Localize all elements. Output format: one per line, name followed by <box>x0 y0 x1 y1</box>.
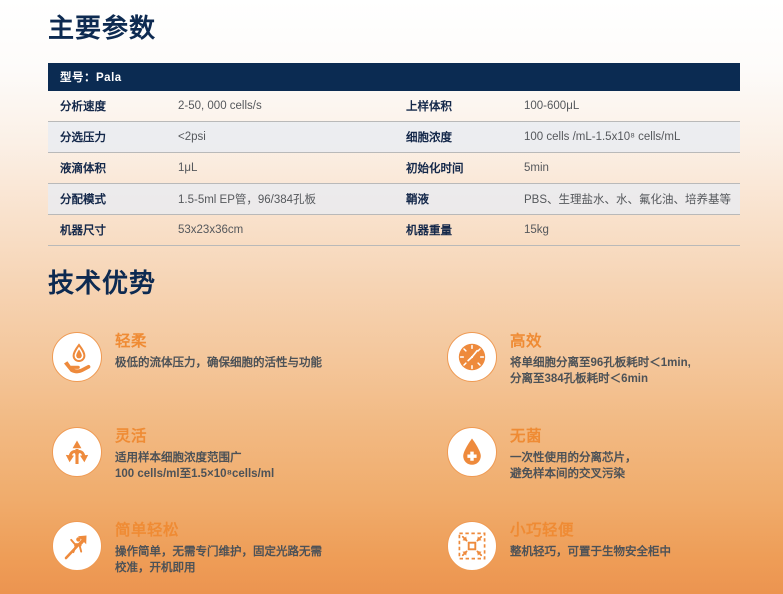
branching-arrows-icon <box>52 427 102 477</box>
advantage-item-sterile: 无菌 一次性使用的分离芯片， 避免样本间的交叉污染 <box>447 427 637 483</box>
advantage-title: 轻柔 <box>115 333 322 351</box>
droplet-cross-icon <box>447 427 497 477</box>
advantage-text: 轻柔 极低的流体压力，确保细胞的活性与功能 <box>115 332 322 371</box>
page-title-technical-advantages: 技术优势 <box>48 263 156 300</box>
spec-key: 液滴体积 <box>48 153 166 184</box>
advantage-item-gentle: 轻柔 极低的流体压力，确保细胞的活性与功能 <box>52 332 322 382</box>
advantage-title: 简单轻松 <box>115 522 322 540</box>
spec-value: 2-50, 000 cells/s <box>166 91 394 122</box>
spec-key: 初始化时间 <box>394 153 512 184</box>
specifications-table: 型号：Pala 分析速度 2-50, 000 cells/s 上样体积 100-… <box>48 63 740 246</box>
spec-value: 100 cells /mL-1.5x10⁸ cells/mL <box>512 122 740 153</box>
advantage-item-easy: 简单轻松 操作简单，无需专门维护，固定光路无需 校准，开机即用 <box>52 521 322 577</box>
spec-key: 鞘液 <box>394 184 512 215</box>
advantage-description: 适用样本细胞浓度范围广 100 cells/ml至1.5×10⁸cells/ml <box>115 450 274 483</box>
spec-key: 上样体积 <box>394 91 512 122</box>
table-header-row: 型号：Pala <box>48 63 740 91</box>
table-row: 机器尺寸 53x23x36cm 机器重量 15kg <box>48 215 740 246</box>
product-spec-page: 主要参数 型号：Pala 分析速度 2-50, 000 cells/s 上样体积… <box>0 0 783 594</box>
advantage-description: 一次性使用的分离芯片， 避免样本间的交叉污染 <box>510 450 637 483</box>
advantage-text: 简单轻松 操作简单，无需专门维护，固定光路无需 校准，开机即用 <box>115 521 322 577</box>
advantage-item-compact: 小巧轻便 整机轻巧，可置于生物安全柜中 <box>447 521 671 571</box>
spec-key: 分选压力 <box>48 122 166 153</box>
spec-key: 细胞浓度 <box>394 122 512 153</box>
table-row: 分析速度 2-50, 000 cells/s 上样体积 100-600μL <box>48 91 740 122</box>
advantage-description: 整机轻巧，可置于生物安全柜中 <box>510 544 671 561</box>
advantage-item-flexible: 灵活 适用样本细胞浓度范围广 100 cells/ml至1.5×10⁸cells… <box>52 427 274 483</box>
droplet-on-hand-icon <box>52 332 102 382</box>
spec-key: 分配模式 <box>48 184 166 215</box>
spec-value: 15kg <box>512 215 740 246</box>
spec-value: 100-600μL <box>512 91 740 122</box>
advantage-text: 无菌 一次性使用的分离芯片， 避免样本间的交叉污染 <box>510 427 637 483</box>
advantage-text: 小巧轻便 整机轻巧，可置于生物安全柜中 <box>510 521 671 560</box>
advantage-title: 无菌 <box>510 428 637 446</box>
advantage-description: 将单细胞分离至96孔板耗时＜1min, 分离至384孔板耗时＜6min <box>510 355 691 388</box>
shrink-arrows-icon <box>447 521 497 571</box>
spec-value: PBS、生理盐水、水、氟化油、培养基等 <box>512 184 740 215</box>
advantage-title: 灵活 <box>115 428 274 446</box>
spec-value: <2psi <box>166 122 394 153</box>
page-title-main-parameters: 主要参数 <box>48 8 156 45</box>
spec-value: 53x23x36cm <box>166 215 394 246</box>
spec-value: 1μL <box>166 153 394 184</box>
advantage-title: 小巧轻便 <box>510 522 671 540</box>
spec-value: 1.5-5ml EP管，96/384孔板 <box>166 184 394 215</box>
advantage-title: 高效 <box>510 333 691 351</box>
table-row: 液滴体积 1μL 初始化时间 5min <box>48 153 740 184</box>
advantage-item-efficient: 高效 将单细胞分离至96孔板耗时＜1min, 分离至384孔板耗时＜6min <box>447 332 691 388</box>
model-header-label: 型号：Pala <box>48 63 740 91</box>
table-row: 分配模式 1.5-5ml EP管，96/384孔板 鞘液 PBS、生理盐水、水、… <box>48 184 740 215</box>
spec-key: 机器尺寸 <box>48 215 166 246</box>
spec-value: 5min <box>512 153 740 184</box>
table-row: 分选压力 <2psi 细胞浓度 100 cells /mL-1.5x10⁸ ce… <box>48 122 740 153</box>
spec-key: 分析速度 <box>48 91 166 122</box>
advantage-description: 极低的流体压力，确保细胞的活性与功能 <box>115 355 322 372</box>
spec-key: 机器重量 <box>394 215 512 246</box>
advantage-description: 操作简单，无需专门维护，固定光路无需 校准，开机即用 <box>115 544 322 577</box>
advantage-text: 灵活 适用样本细胞浓度范围广 100 cells/ml至1.5×10⁸cells… <box>115 427 274 483</box>
clock-icon <box>447 332 497 382</box>
person-climbing-icon <box>52 521 102 571</box>
advantage-text: 高效 将单细胞分离至96孔板耗时＜1min, 分离至384孔板耗时＜6min <box>510 332 691 388</box>
